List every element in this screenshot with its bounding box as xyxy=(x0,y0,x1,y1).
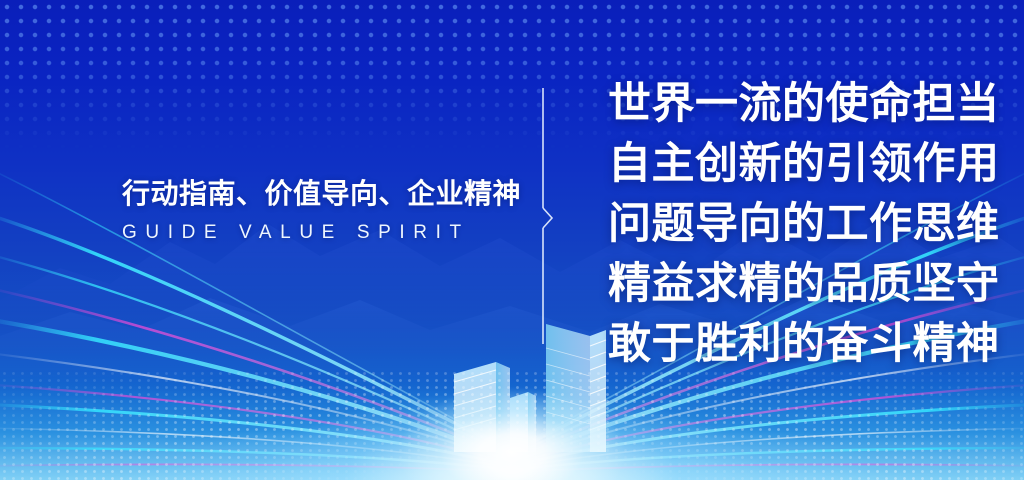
slogan-line-1: 世界一流的使命担当 xyxy=(608,74,988,134)
city-skyscrapers xyxy=(440,302,620,452)
left-text-panel: 行动指南、价值导向、企业精神 GUIDE VALUE SPIRIT xyxy=(122,176,502,245)
slogan-line-3: 问题导向的工作思维 xyxy=(608,194,988,254)
panel-subtitle-en: GUIDE VALUE SPIRIT xyxy=(122,221,502,245)
slogan-line-2: 自主创新的引领作用 xyxy=(608,134,988,194)
right-slogan-panel: 世界一流的使命担当 自主创新的引领作用 问题导向的工作思维 精益求精的品质坚守 … xyxy=(608,74,988,374)
slogan-line-4: 精益求精的品质坚守 xyxy=(608,254,988,314)
vertical-divider xyxy=(538,88,556,344)
corporate-culture-banner: 行动指南、价值导向、企业精神 GUIDE VALUE SPIRIT 世界一流的使… xyxy=(0,0,1024,480)
ground-dot-grid xyxy=(0,370,1024,480)
slogan-line-5: 敢于胜利的奋斗精神 xyxy=(608,314,988,374)
panel-title-cn: 行动指南、价值导向、企业精神 xyxy=(122,176,502,212)
chevron-right-icon xyxy=(543,208,552,228)
